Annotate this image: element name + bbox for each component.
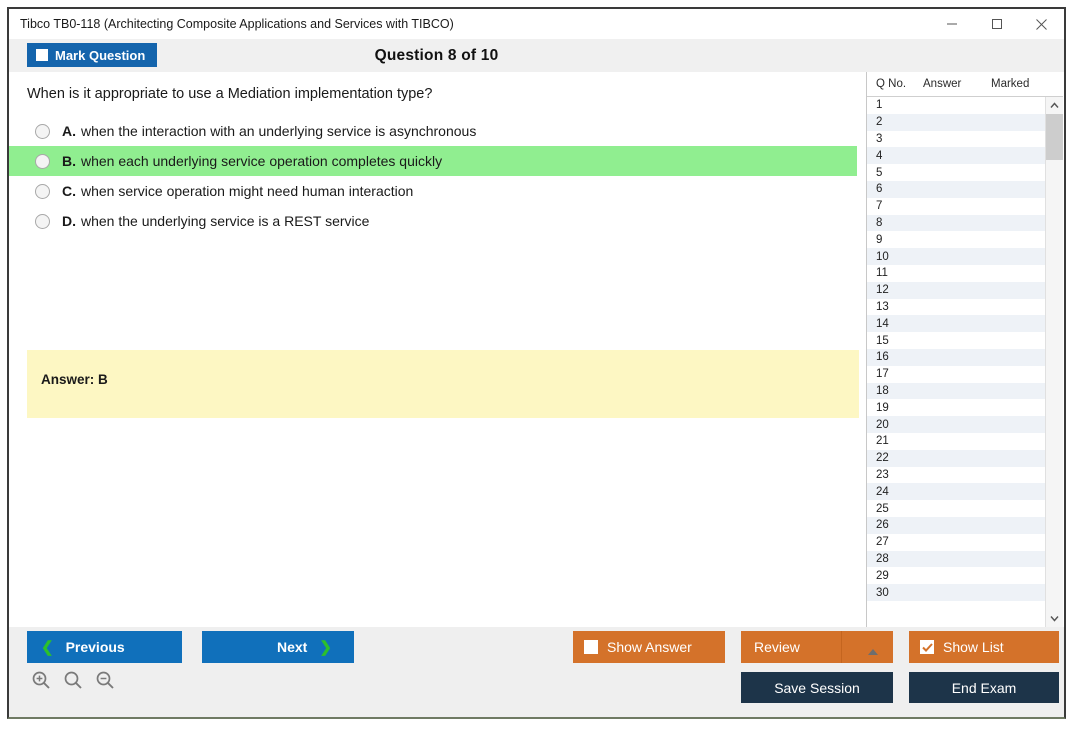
caret-up-icon[interactable] xyxy=(867,643,879,659)
question-list-row[interactable]: 26 xyxy=(867,517,1045,534)
question-list-row[interactable]: 5 xyxy=(867,164,1045,181)
chevron-left-icon: ❮ xyxy=(41,638,54,656)
review-label: Review xyxy=(754,639,800,655)
row-question-number: 13 xyxy=(867,301,921,313)
row-question-number: 29 xyxy=(867,570,921,582)
column-header-qno: Q No. xyxy=(867,78,923,90)
row-question-number: 24 xyxy=(867,486,921,498)
zoom-in-icon[interactable] xyxy=(31,670,51,690)
column-header-marked: Marked xyxy=(991,78,1051,90)
question-counter: Question 8 of 10 xyxy=(0,47,1064,65)
save-session-button[interactable]: Save Session xyxy=(741,672,893,703)
question-list-row[interactable]: 14 xyxy=(867,315,1045,332)
question-list-row[interactable]: 4 xyxy=(867,147,1045,164)
question-list-row[interactable]: 27 xyxy=(867,534,1045,551)
window-title: Tibco TB0-118 (Architecting Composite Ap… xyxy=(9,17,454,31)
question-list-header: Q No. Answer Marked xyxy=(867,72,1063,97)
row-question-number: 15 xyxy=(867,335,921,347)
maximize-icon[interactable] xyxy=(974,9,1019,39)
option-letter-a: A. xyxy=(62,123,76,139)
main-content: When is it appropriate to use a Mediatio… xyxy=(9,72,1064,627)
question-list-row[interactable]: 10 xyxy=(867,248,1045,265)
option-text-b: when each underlying service operation c… xyxy=(81,153,442,169)
row-question-number: 16 xyxy=(867,351,921,363)
row-question-number: 9 xyxy=(867,234,921,246)
question-list-row[interactable]: 21 xyxy=(867,433,1045,450)
end-exam-button[interactable]: End Exam xyxy=(909,672,1059,703)
zoom-out-icon[interactable] xyxy=(95,670,115,690)
row-question-number: 28 xyxy=(867,553,921,565)
row-question-number: 4 xyxy=(867,150,921,162)
question-list-row[interactable]: 8 xyxy=(867,215,1045,232)
end-exam-label: End Exam xyxy=(952,680,1017,696)
question-pane: When is it appropriate to use a Mediatio… xyxy=(9,72,857,627)
question-list-panel: Q No. Answer Marked 12345678910111213141… xyxy=(866,72,1063,627)
option-text-a: when the interaction with an underlying … xyxy=(81,123,476,139)
row-question-number: 7 xyxy=(867,200,921,212)
question-list-row[interactable]: 25 xyxy=(867,500,1045,517)
option-letter-c: C. xyxy=(62,183,76,199)
radio-button-d[interactable] xyxy=(35,214,50,229)
previous-button[interactable]: ❮ Previous xyxy=(27,631,182,663)
row-question-number: 14 xyxy=(867,318,921,330)
row-question-number: 11 xyxy=(867,267,921,279)
radio-button-b[interactable] xyxy=(35,154,50,169)
save-session-label: Save Session xyxy=(774,680,860,696)
row-question-number: 3 xyxy=(867,133,921,145)
radio-button-c[interactable] xyxy=(35,184,50,199)
previous-button-label: Previous xyxy=(66,639,125,655)
close-icon[interactable] xyxy=(1019,9,1064,39)
row-question-number: 2 xyxy=(867,116,921,128)
question-list-row[interactable]: 12 xyxy=(867,282,1045,299)
question-list-row[interactable]: 29 xyxy=(867,567,1045,584)
header-bar: Mark Question Question 8 of 10 xyxy=(9,39,1064,72)
footer-toolbar: ❮ Previous Next ❯ Show Answer Review xyxy=(9,627,1064,717)
show-answer-checkbox[interactable] xyxy=(584,640,598,654)
answer-panel: Answer: B xyxy=(27,350,859,418)
row-question-number: 27 xyxy=(867,536,921,548)
question-list-row[interactable]: 13 xyxy=(867,299,1045,316)
question-list-row[interactable]: 2 xyxy=(867,114,1045,131)
next-button-label: Next xyxy=(277,639,307,655)
option-row-b[interactable]: B. when each underlying service operatio… xyxy=(9,146,857,176)
review-dropdown-button[interactable]: Review xyxy=(741,631,893,663)
question-list-row[interactable]: 17 xyxy=(867,366,1045,383)
row-question-number: 22 xyxy=(867,452,921,464)
question-list-row[interactable]: 1 xyxy=(867,97,1045,114)
question-list-row[interactable]: 28 xyxy=(867,551,1045,568)
row-question-number: 6 xyxy=(867,183,921,195)
row-question-number: 10 xyxy=(867,251,921,263)
column-header-answer: Answer xyxy=(923,78,991,90)
question-list-row[interactable]: 11 xyxy=(867,265,1045,282)
question-list-scroll-area: 1234567891011121314151617181920212223242… xyxy=(867,97,1063,627)
option-text-d: when the underlying service is a REST se… xyxy=(81,213,369,229)
zoom-reset-icon[interactable] xyxy=(63,670,83,690)
option-text-c: when service operation might need human … xyxy=(81,183,413,199)
question-list-scrollbar[interactable] xyxy=(1045,97,1063,627)
window-controls xyxy=(929,9,1064,39)
question-list-row[interactable]: 30 xyxy=(867,584,1045,601)
question-list-row[interactable]: 15 xyxy=(867,332,1045,349)
show-list-label: Show List xyxy=(943,639,1004,655)
row-question-number: 8 xyxy=(867,217,921,229)
option-letter-d: D. xyxy=(62,213,76,229)
row-question-number: 21 xyxy=(867,435,921,447)
option-row-d[interactable]: D. when the underlying service is a REST… xyxy=(9,206,857,236)
question-list-row[interactable]: 18 xyxy=(867,383,1045,400)
row-question-number: 12 xyxy=(867,284,921,296)
scroll-up-arrow-icon[interactable] xyxy=(1046,97,1063,114)
option-letter-b: B. xyxy=(62,153,76,169)
row-question-number: 17 xyxy=(867,368,921,380)
minimize-icon[interactable] xyxy=(929,9,974,39)
question-list-row[interactable]: 22 xyxy=(867,450,1045,467)
answer-options-list: A. when the interaction with an underlyi… xyxy=(9,116,857,236)
show-list-button[interactable]: Show List xyxy=(909,631,1059,663)
row-question-number: 26 xyxy=(867,519,921,531)
scroll-down-arrow-icon[interactable] xyxy=(1046,610,1063,627)
question-list-row[interactable]: 16 xyxy=(867,349,1045,366)
option-row-a[interactable]: A. when the interaction with an underlyi… xyxy=(9,116,857,146)
answer-text: Answer: B xyxy=(27,350,859,387)
show-list-checkbox[interactable] xyxy=(920,640,934,654)
chevron-right-icon: ❯ xyxy=(319,638,332,656)
row-question-number: 20 xyxy=(867,419,921,431)
scrollbar-thumb[interactable] xyxy=(1046,114,1063,160)
question-list-row[interactable]: 19 xyxy=(867,399,1045,416)
exam-app-window: Tibco TB0-118 (Architecting Composite Ap… xyxy=(0,0,1075,735)
row-question-number: 19 xyxy=(867,402,921,414)
application-window: Tibco TB0-118 (Architecting Composite Ap… xyxy=(7,7,1066,719)
scrollbar-track[interactable] xyxy=(1046,114,1063,610)
show-answer-label: Show Answer xyxy=(607,639,692,655)
row-question-number: 30 xyxy=(867,587,921,599)
row-question-number: 23 xyxy=(867,469,921,481)
option-row-c[interactable]: C. when service operation might need hum… xyxy=(9,176,857,206)
question-list-row[interactable]: 9 xyxy=(867,231,1045,248)
next-button[interactable]: Next ❯ xyxy=(202,631,354,663)
question-list-row[interactable]: 7 xyxy=(867,198,1045,215)
title-bar: Tibco TB0-118 (Architecting Composite Ap… xyxy=(9,9,1064,39)
question-list-row[interactable]: 6 xyxy=(867,181,1045,198)
row-question-number: 5 xyxy=(867,167,921,179)
row-question-number: 1 xyxy=(867,99,921,111)
radio-button-a[interactable] xyxy=(35,124,50,139)
question-list-rows: 1234567891011121314151617181920212223242… xyxy=(867,97,1045,627)
row-question-number: 18 xyxy=(867,385,921,397)
zoom-toolbar xyxy=(31,670,115,690)
question-list-row[interactable]: 3 xyxy=(867,131,1045,148)
review-separator xyxy=(841,631,842,663)
question-list-row[interactable]: 20 xyxy=(867,416,1045,433)
question-list-row[interactable]: 24 xyxy=(867,483,1045,500)
show-answer-button[interactable]: Show Answer xyxy=(573,631,725,663)
question-list-row[interactable]: 23 xyxy=(867,467,1045,484)
row-question-number: 25 xyxy=(867,503,921,515)
question-text: When is it appropriate to use a Mediatio… xyxy=(9,72,857,102)
